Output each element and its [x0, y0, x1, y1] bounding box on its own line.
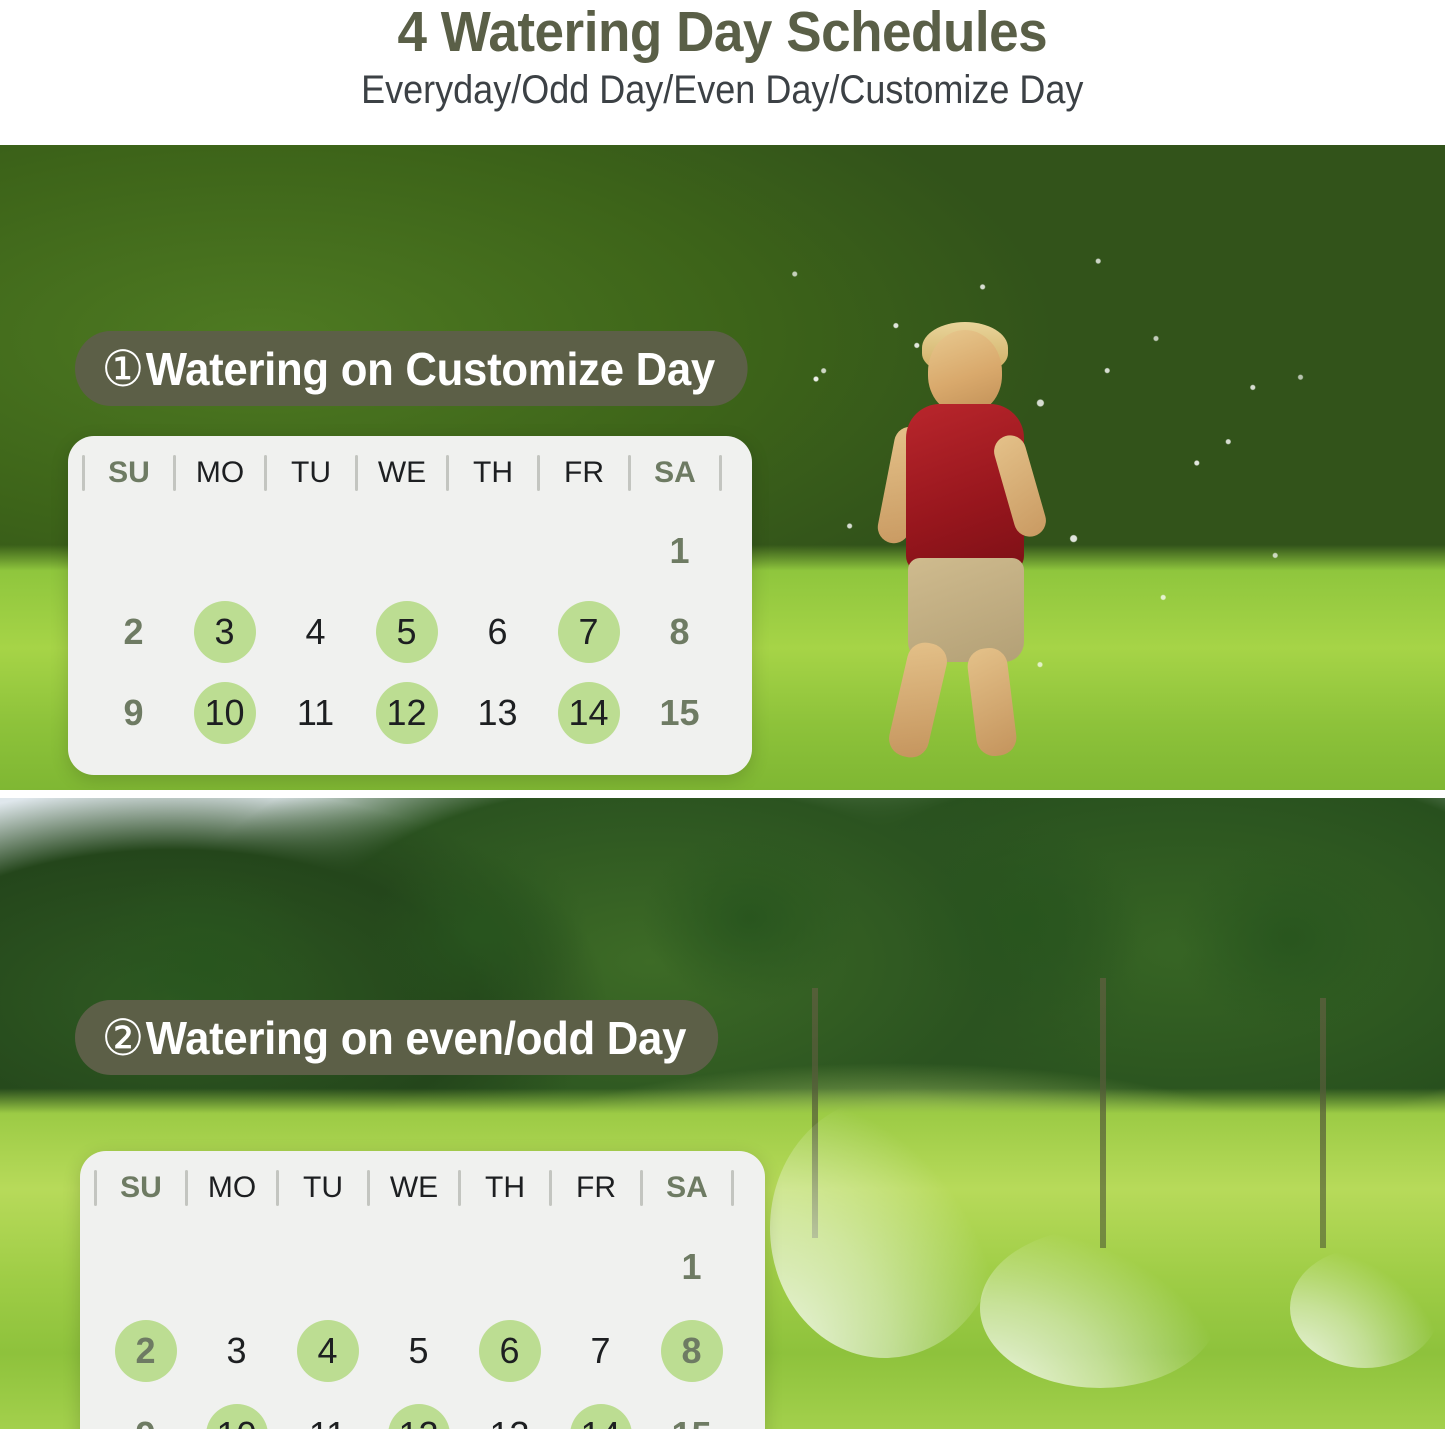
weekday-header-sa: SA	[631, 458, 719, 488]
calendar-day-blank	[467, 520, 529, 582]
calendar-day-cell	[373, 1225, 464, 1309]
calendar-day-cell[interactable]: 14	[543, 672, 634, 753]
calendar-day-cell	[270, 510, 361, 591]
calendar-day-cell[interactable]: 3	[191, 1309, 282, 1393]
calendar-day[interactable]: 13	[479, 1404, 541, 1429]
calendar-day[interactable]: 13	[467, 682, 529, 744]
calendar-day-cell[interactable]: 12	[373, 1393, 464, 1429]
calendar-day-cell	[282, 1225, 373, 1309]
calendar-day-cell[interactable]: 7	[555, 1309, 646, 1393]
calendar-day-cell[interactable]: 1	[634, 510, 725, 591]
weekday-header-th: TH	[449, 458, 537, 488]
calendar-day-cell	[555, 1225, 646, 1309]
weekday-header-tu: TU	[267, 458, 355, 488]
calendar-day-cell[interactable]: 15	[634, 672, 725, 753]
child-leg-right	[966, 646, 1019, 758]
calendar-day-cell[interactable]: 7	[543, 591, 634, 672]
panel-badge-customize-day: ① Watering on Customize Day	[75, 331, 747, 406]
child-head	[928, 330, 1002, 414]
calendar-week-row: 1	[68, 510, 752, 591]
calendar-day-blank	[103, 520, 165, 582]
calendar-day-cell	[100, 1225, 191, 1309]
calendar-day-cell[interactable]: 3	[179, 591, 270, 672]
calendar-day-cell[interactable]: 8	[634, 591, 725, 672]
column-divider	[719, 455, 722, 491]
calendar-day-selected[interactable]: 6	[479, 1320, 541, 1382]
calendar-day-selected[interactable]: 4	[297, 1320, 359, 1382]
panel-separator	[0, 790, 1445, 798]
calendar-day-blank	[297, 1236, 359, 1298]
calendar-day-selected[interactable]: 10	[194, 682, 256, 744]
weekday-header-fr: FR	[552, 1173, 640, 1203]
calendar-day-cell[interactable]: 12	[361, 672, 452, 753]
page-header: 4 Watering Day Schedules Everyday/Odd Da…	[0, 0, 1445, 145]
calendar-day-cell[interactable]: 2	[100, 1309, 191, 1393]
calendar-day[interactable]: 3	[206, 1320, 268, 1382]
weekday-header-mo: MO	[176, 458, 264, 488]
calendar-day-cell[interactable]: 4	[282, 1309, 373, 1393]
panel-badge-even-odd-day: ② Watering on even/odd Day	[75, 1000, 718, 1075]
calendar-day-cell[interactable]: 1	[646, 1225, 737, 1309]
calendar-day-cell[interactable]: 14	[555, 1393, 646, 1429]
calendar-day-selected[interactable]: 3	[194, 601, 256, 663]
schedule-panel-even-odd-day: ② Watering on even/odd Day SU MO TU WE T…	[0, 798, 1445, 1429]
calendar-day-blank	[206, 1236, 268, 1298]
calendar-day-cell	[464, 1225, 555, 1309]
calendar-day-selected[interactable]: 14	[570, 1404, 632, 1429]
calendar-day-blank	[285, 520, 347, 582]
calendar-card-customize-day[interactable]: SU MO TU WE TH FR SA 1234567891011121314…	[68, 436, 752, 775]
calendar-day[interactable]: 1	[649, 520, 711, 582]
schedule-panels: ① Watering on Customize Day SU MO TU WE …	[0, 145, 1445, 1429]
weekday-header-th: TH	[461, 1173, 549, 1203]
calendar-day-cell[interactable]: 13	[464, 1393, 555, 1429]
calendar-day-cell[interactable]: 10	[191, 1393, 282, 1429]
calendar-day[interactable]: 6	[467, 601, 529, 663]
calendar-day-selected[interactable]: 12	[376, 682, 438, 744]
calendar-day[interactable]: 9	[103, 682, 165, 744]
weekday-header-we: WE	[370, 1173, 458, 1203]
calendar-day-cell[interactable]: 13	[452, 672, 543, 753]
palm-trunk	[812, 988, 818, 1238]
calendar-grid: 123456789101112131415	[80, 1225, 765, 1429]
calendar-day-cell[interactable]: 10	[179, 672, 270, 753]
calendar-day-selected[interactable]: 8	[661, 1320, 723, 1382]
calendar-day-cell	[543, 510, 634, 591]
calendar-week-row: 9101112131415	[68, 672, 752, 753]
calendar-day-blank	[376, 520, 438, 582]
weekday-header-sa: SA	[643, 1173, 731, 1203]
calendar-weekday-header: SU MO TU WE TH FR SA	[68, 436, 752, 510]
calendar-day-cell	[361, 510, 452, 591]
calendar-day[interactable]: 8	[649, 601, 711, 663]
sprinkler-water-arc	[770, 1098, 1000, 1358]
calendar-day-cell[interactable]: 15	[646, 1393, 737, 1429]
weekday-header-mo: MO	[188, 1173, 276, 1203]
calendar-day-selected[interactable]: 12	[388, 1404, 450, 1429]
calendar-day-cell[interactable]: 2	[88, 591, 179, 672]
calendar-day-selected[interactable]: 5	[376, 601, 438, 663]
calendar-day-cell[interactable]: 11	[282, 1393, 373, 1429]
calendar-day-selected[interactable]: 10	[206, 1404, 268, 1429]
calendar-day-cell	[179, 510, 270, 591]
calendar-day-blank	[194, 520, 256, 582]
calendar-day-cell[interactable]: 6	[452, 591, 543, 672]
column-divider	[731, 1170, 734, 1206]
calendar-day[interactable]: 15	[661, 1404, 723, 1429]
child-leg-left	[885, 639, 950, 761]
calendar-week-row: 2345678	[68, 591, 752, 672]
badge-label: Watering on even/odd Day	[146, 1011, 686, 1065]
calendar-day-cell[interactable]: 8	[646, 1309, 737, 1393]
calendar-day[interactable]: 7	[570, 1320, 632, 1382]
calendar-day-cell[interactable]: 9	[88, 672, 179, 753]
calendar-day[interactable]: 4	[285, 601, 347, 663]
calendar-day-cell[interactable]: 11	[270, 672, 361, 753]
calendar-day[interactable]: 1	[661, 1236, 723, 1298]
calendar-day-selected[interactable]: 2	[115, 1320, 177, 1382]
palm-trunk	[1100, 978, 1106, 1248]
calendar-day[interactable]: 2	[103, 601, 165, 663]
calendar-day-cell[interactable]: 5	[361, 591, 452, 672]
calendar-day-cell[interactable]: 5	[373, 1309, 464, 1393]
weekday-header-we: WE	[358, 458, 446, 488]
calendar-day-cell[interactable]: 9	[100, 1393, 191, 1429]
page-title: 4 Watering Day Schedules	[398, 2, 1048, 64]
calendar-day-blank	[388, 1236, 450, 1298]
weekday-header-su: SU	[85, 458, 173, 488]
calendar-week-row: 2345678	[80, 1309, 765, 1393]
calendar-day-cell	[452, 510, 543, 591]
calendar-day-cell	[88, 510, 179, 591]
calendar-week-row: 9101112131415	[80, 1393, 765, 1429]
calendar-day-blank	[479, 1236, 541, 1298]
calendar-grid: 123456789101112131415	[68, 510, 752, 753]
weekday-header-tu: TU	[279, 1173, 367, 1203]
calendar-day-blank	[115, 1236, 177, 1298]
calendar-card-even-odd-day[interactable]: SU MO TU WE TH FR SA 1234567891011121314…	[80, 1151, 765, 1429]
calendar-day[interactable]: 11	[297, 1404, 359, 1429]
weekday-header-fr: FR	[540, 458, 628, 488]
calendar-day[interactable]: 9	[115, 1404, 177, 1429]
badge-label: Watering on Customize Day	[146, 342, 715, 396]
calendar-day-cell	[191, 1225, 282, 1309]
calendar-day[interactable]: 15	[649, 682, 711, 744]
calendar-day-selected[interactable]: 7	[558, 601, 620, 663]
badge-number-icon: ②	[102, 1009, 144, 1067]
page-subtitle: Everyday/Odd Day/Even Day/Customize Day	[361, 68, 1083, 113]
weekday-header-su: SU	[97, 1173, 185, 1203]
calendar-day-blank	[570, 1236, 632, 1298]
schedule-panel-customize-day: ① Watering on Customize Day SU MO TU WE …	[0, 145, 1445, 790]
calendar-weekday-header: SU MO TU WE TH FR SA	[80, 1151, 765, 1225]
calendar-day-cell[interactable]: 6	[464, 1309, 555, 1393]
calendar-day-selected[interactable]: 14	[558, 682, 620, 744]
sprinkler-water-arc	[1290, 1248, 1440, 1368]
palm-trunk	[1320, 998, 1326, 1248]
calendar-day[interactable]: 5	[388, 1320, 450, 1382]
palm-canopy	[1130, 808, 1445, 1068]
sprinkler-water-arc	[980, 1228, 1220, 1388]
child-figure	[880, 330, 1050, 750]
calendar-day-cell[interactable]: 4	[270, 591, 361, 672]
calendar-day[interactable]: 11	[285, 682, 347, 744]
calendar-day-blank	[558, 520, 620, 582]
badge-number-icon: ①	[102, 340, 144, 398]
calendar-week-row: 1	[80, 1225, 765, 1309]
